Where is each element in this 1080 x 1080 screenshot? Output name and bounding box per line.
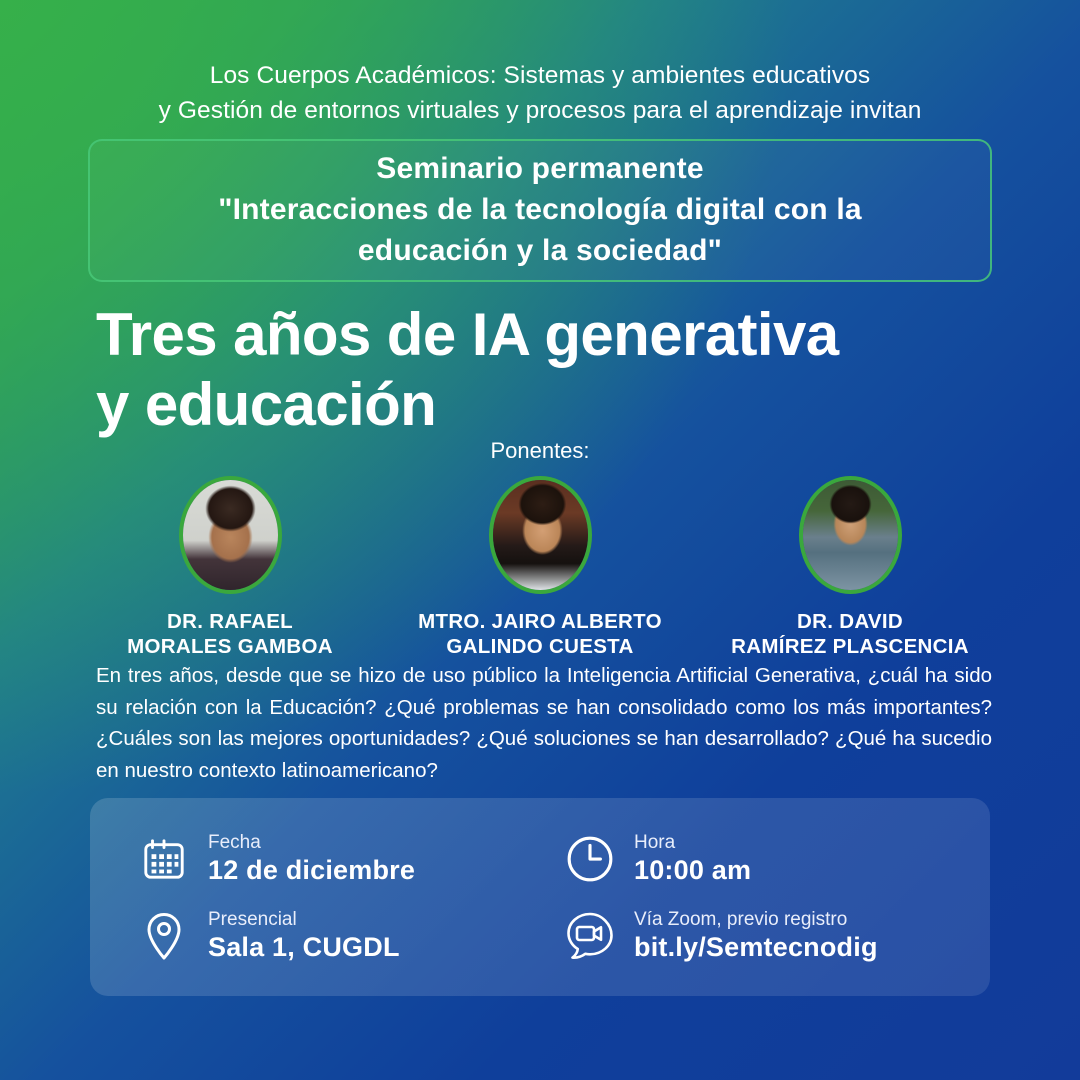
- detail-value: Sala 1, CUGDL: [208, 931, 400, 964]
- speaker-name: DR. RAFAEL MORALES GAMBOA: [90, 609, 370, 659]
- speaker-name-line-1: DR. RAFAEL: [90, 609, 370, 634]
- detail-value: 12 de diciembre: [208, 854, 415, 887]
- detail-date: Fecha 12 de diciembre: [138, 820, 564, 897]
- clock-icon: [564, 833, 616, 885]
- avatar: [179, 476, 282, 594]
- detail-location: Presencial Sala 1, CUGDL: [138, 897, 564, 974]
- portrait-david-ramirez-plascencia: [803, 480, 898, 590]
- seminar-line-2: "Interacciones de la tecnología digital …: [218, 189, 862, 230]
- detail-label: Vía Zoom, previo registro: [634, 908, 878, 931]
- seminar-title-box: Seminario permanente "Interacciones de l…: [88, 139, 992, 282]
- portrait-jairo-alberto-galindo-cuesta: [493, 480, 588, 590]
- calendar-icon: [138, 833, 190, 885]
- speaker-name-line-1: MTRO. JAIRO ALBERTO: [400, 609, 680, 634]
- seminar-line-3: educación y la sociedad": [218, 230, 862, 271]
- detail-label: Fecha: [208, 831, 415, 854]
- detail-time: Hora 10:00 am: [564, 820, 990, 897]
- event-details-panel: Fecha 12 de diciembre Hora 10:00 am: [90, 798, 990, 996]
- detail-label: Hora: [634, 831, 751, 854]
- detail-value[interactable]: bit.ly/Semtecnodig: [634, 931, 878, 964]
- detail-zoom: Vía Zoom, previo registro bit.ly/Semtecn…: [564, 897, 990, 974]
- poster-canvas: Los Cuerpos Académicos: Sistemas y ambie…: [0, 0, 1080, 1080]
- speaker-name: MTRO. JAIRO ALBERTO GALINDO CUESTA: [400, 609, 680, 659]
- avatar: [799, 476, 902, 594]
- speaker-name-line-2: MORALES GAMBOA: [90, 634, 370, 659]
- intro-text: Los Cuerpos Académicos: Sistemas y ambie…: [0, 58, 1080, 128]
- speaker-card: DR. RAFAEL MORALES GAMBOA: [90, 476, 370, 659]
- intro-line-2: y Gestión de entornos virtuales y proces…: [0, 93, 1080, 128]
- headline-line-1: Tres años de IA generativa: [96, 300, 996, 370]
- description-text: En tres años, desde que se hizo de uso p…: [96, 660, 992, 786]
- speaker-name: DR. DAVID RAMÍREZ PLASCENCIA: [710, 609, 990, 659]
- video-camera-icon: [564, 910, 616, 962]
- headline-line-2: y educación: [96, 370, 996, 440]
- seminar-line-1: Seminario permanente: [218, 148, 862, 189]
- location-pin-icon: [138, 910, 190, 962]
- portrait-rafael-morales-gamboa: [183, 480, 278, 590]
- speaker-name-line-1: DR. DAVID: [710, 609, 990, 634]
- speakers-label: Ponentes:: [0, 438, 1080, 464]
- page-title: Tres años de IA generativa y educación: [96, 300, 996, 440]
- seminar-title-text: Seminario permanente "Interacciones de l…: [218, 148, 862, 273]
- speaker-name-line-2: GALINDO CUESTA: [400, 634, 680, 659]
- speaker-card: MTRO. JAIRO ALBERTO GALINDO CUESTA: [400, 476, 680, 659]
- avatar: [489, 476, 592, 594]
- speaker-card: DR. DAVID RAMÍREZ PLASCENCIA: [710, 476, 990, 659]
- speakers-list: DR. RAFAEL MORALES GAMBOA MTRO. JAIRO AL…: [90, 476, 990, 659]
- speaker-name-line-2: RAMÍREZ PLASCENCIA: [710, 634, 990, 659]
- detail-label: Presencial: [208, 908, 400, 931]
- detail-value: 10:00 am: [634, 854, 751, 887]
- intro-line-1: Los Cuerpos Académicos: Sistemas y ambie…: [0, 58, 1080, 93]
- footer-logos: UNIVERSIDAD DE GUADALAJARA Red Universit…: [0, 1000, 1080, 1080]
